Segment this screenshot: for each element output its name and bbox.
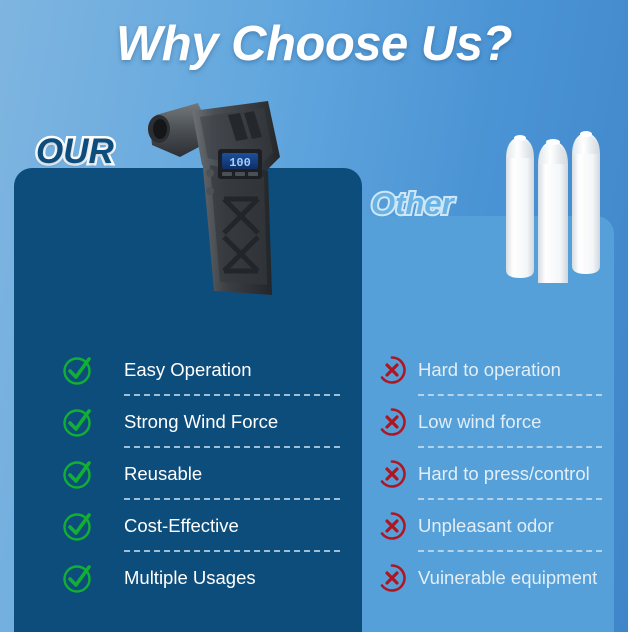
list-item-label: Vuinerable equipment [418, 567, 597, 589]
badge-our: OUR [36, 132, 114, 172]
cordless-air-blower-image: 100 [140, 95, 320, 310]
check-circle-icon [62, 458, 94, 490]
list-item: Easy Operation [14, 344, 362, 396]
cross-circle-icon [376, 406, 408, 438]
comparison-infographic: Why Choose Us? [0, 0, 628, 632]
list-item: Hard to press/control [362, 448, 614, 500]
list-item-label: Hard to operation [418, 359, 561, 381]
list-item-label: Easy Operation [124, 359, 252, 381]
list-item: Unpleasant odor [362, 500, 614, 552]
check-circle-icon [62, 510, 94, 542]
list-item: Low wind force [362, 396, 614, 448]
list-item-label: Low wind force [418, 411, 541, 433]
check-circle-icon [62, 562, 94, 594]
list-item-label: Multiple Usages [124, 567, 256, 589]
list-item-label: Reusable [124, 463, 202, 485]
list-item: Hard to operation [362, 344, 614, 396]
list-item-label: Cost-Effective [124, 515, 239, 537]
list-item-label: Unpleasant odor [418, 515, 554, 537]
cross-circle-icon [376, 510, 408, 542]
list-item: Multiple Usages [14, 552, 362, 604]
list-item: Reusable [14, 448, 362, 500]
badge-other: Other [371, 186, 454, 222]
cross-circle-icon [376, 354, 408, 386]
svg-text:100: 100 [229, 156, 251, 170]
list-item: Cost-Effective [14, 500, 362, 552]
check-circle-icon [62, 406, 94, 438]
list-item: Strong Wind Force [14, 396, 362, 448]
cross-circle-icon [376, 562, 408, 594]
cross-circle-icon [376, 458, 408, 490]
list-item: Vuinerable equipment [362, 552, 614, 604]
page-title: Why Choose Us? [0, 16, 628, 72]
ours-feature-list: Easy Operation Strong Wind Force Reusabl… [14, 344, 362, 604]
list-item-label: Hard to press/control [418, 463, 590, 485]
list-item-label: Strong Wind Force [124, 411, 278, 433]
check-circle-icon [62, 354, 94, 386]
aerosol-spray-cans-image [496, 118, 618, 283]
other-feature-list: Hard to operation Low wind force Hard to… [362, 344, 614, 604]
